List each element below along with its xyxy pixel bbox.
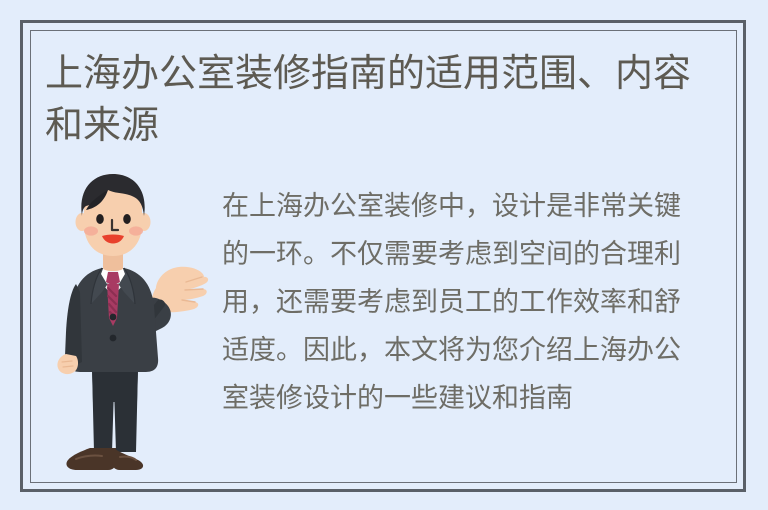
page-canvas: 上海办公室装修指南的适用范围、内容和来源 (0, 0, 768, 510)
page-title: 上海办公室装修指南的适用范围、内容和来源 (45, 48, 725, 152)
head (76, 174, 151, 256)
right-cheek (129, 226, 143, 235)
article-body: 在上海办公室装修中，设计是非常关键的一环。不仅需要考虑到空间的合理利用，还需要考… (222, 182, 706, 422)
jacket-button-bottom (110, 335, 117, 342)
trousers (92, 368, 138, 452)
left-eye (96, 214, 104, 224)
businessman-illustration (46, 172, 214, 482)
right-eye (123, 214, 131, 224)
left-cheek (84, 226, 98, 235)
jacket-button-top (110, 314, 117, 321)
left-hand (57, 354, 78, 374)
